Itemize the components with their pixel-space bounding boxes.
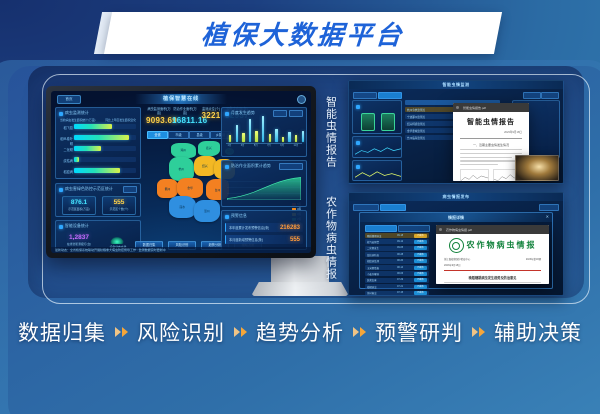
device-thumb-icon <box>381 113 395 131</box>
table-row[interactable]: 晚稻穗期病虫09-18已发布 <box>365 233 429 238</box>
table-row[interactable]: 二化螟发生09-05已发布 <box>365 246 429 251</box>
sparkline <box>355 148 401 154</box>
row-status-pill: 已发布 <box>414 266 427 270</box>
row-status-pill: 已发布 <box>414 272 427 276</box>
bar <box>275 129 277 142</box>
sub-tab[interactable] <box>539 204 559 211</box>
sub-title: 智能虫情监测 <box>443 82 470 88</box>
chevron-icon <box>479 327 485 337</box>
row-name: 宁波鄞州监测点 <box>407 115 425 119</box>
card-tabs[interactable] <box>273 110 303 117</box>
map-region[interactable]: 湖州 <box>171 143 196 159</box>
row-status-pill: 已发布 <box>414 285 427 289</box>
map-region-label: 金华 <box>187 186 193 190</box>
table-row[interactable]: 纹枯病防治08-28已发布 <box>365 252 429 257</box>
monitor: 首页 植保智慧在线 病虫监测统计 当前病虫发生面积统计(万亩) 同比上年度发生面… <box>46 86 316 258</box>
row-value: 07-29 <box>397 278 403 281</box>
table-row[interactable]: 茶树害虫07-15已发布 <box>365 291 429 296</box>
row-name: 纹枯病防治 <box>367 253 379 257</box>
row-name: 杭州余杭监测点 <box>407 108 425 112</box>
kpi-value: 16811.16 <box>172 116 198 125</box>
table-row[interactable]: 稻瘟病监测08-20已发布 <box>365 259 429 264</box>
chevron-icon <box>241 327 247 337</box>
field-photo <box>515 155 559 181</box>
kpi-label: 防治作业面积(万亩) <box>172 107 198 116</box>
legend-chip <box>279 163 303 170</box>
document-paragraph <box>444 282 541 284</box>
hbar-fill <box>74 124 112 129</box>
document-date: 2023年9月18日 <box>460 130 522 134</box>
sub-titlebar: 病虫情报发布 <box>349 193 563 201</box>
bar <box>255 131 257 142</box>
news-ticker: 最新动态：全省植保系统联动开展秋粮重大病虫防控督导工作 · 监测数据实时更新中 <box>51 247 311 253</box>
row-value: 09-05 <box>397 246 403 249</box>
map-region[interactable]: 衢州 <box>157 179 179 197</box>
map-region[interactable]: 嘉兴 <box>198 141 220 156</box>
map-region-label: 丽水 <box>179 205 185 209</box>
table-row[interactable]: 稻飞虱预警09-12已发布 <box>365 239 429 244</box>
chevron-icon <box>115 327 121 337</box>
map-region-label: 绍兴 <box>202 164 208 168</box>
map-region-label: 温州 <box>204 209 210 213</box>
chevron-icon <box>472 327 478 337</box>
sub-tab[interactable] <box>541 92 559 99</box>
row-name: 稻飞虱预警 <box>367 240 379 244</box>
kpi-item: 病虫监测面积(万亩)9093.69 <box>146 107 172 125</box>
row-status-pill: 已发布 <box>414 234 427 238</box>
card-tabs[interactable] <box>279 163 303 170</box>
bar <box>282 137 284 142</box>
bar-x-tick: 5月 <box>254 143 258 147</box>
chevron-icon <box>234 327 240 337</box>
flow-step: 预警研判 <box>375 317 463 347</box>
card-title: 月度发生趋势 <box>231 111 255 116</box>
left-panel-subtitle-a: 当前病虫发生面积统计(万亩) <box>60 118 95 122</box>
document-divider <box>460 138 522 139</box>
table-row[interactable]: 小麦赤霉病08-06已发布 <box>365 271 429 276</box>
document-titlebar: 智能虫情报告.pdf <box>453 103 529 112</box>
document-title: 智能虫情报告 <box>460 117 522 127</box>
panel-marker-icon <box>225 112 229 116</box>
close-icon[interactable]: ✕ <box>546 214 549 219</box>
row-value: 08-14 <box>397 266 403 269</box>
card-header <box>356 103 398 110</box>
poster-root: 植保大数据平台 首页 植保智慧在线 病虫监测统计 当前病虫发生面积统计(万亩) … <box>0 0 600 414</box>
map-region-label: 杭州 <box>178 167 184 171</box>
document-text-line <box>460 157 512 158</box>
hbar-fill <box>74 135 129 140</box>
card-title: 病虫监测统计 <box>65 111 89 116</box>
flow-step: 数据归集 <box>18 317 106 347</box>
sub-card-trend <box>352 136 402 158</box>
sub-title: 病虫情报发布 <box>443 194 470 200</box>
sub-card-chart <box>352 160 402 181</box>
tile-caption: 示范区面积(万亩) <box>63 207 95 211</box>
card-title: 病虫害绿色防控示范区统计 <box>65 187 113 192</box>
bar <box>229 135 231 142</box>
map-region[interactable]: 金华 <box>177 178 202 198</box>
document-text-line <box>460 153 522 154</box>
alert-value: 555 <box>290 237 300 243</box>
document-title: 农作物病虫情报 <box>467 241 537 250</box>
alert-text: 本月度新增预警信息(条) <box>229 237 263 242</box>
bar-x-tick: 3月 <box>241 143 245 147</box>
row-value: 08-20 <box>397 259 403 262</box>
map-region[interactable]: 丽水 <box>169 196 196 218</box>
hbar-label: 稻纵卷叶螟 <box>59 136 73 146</box>
device-thumb-icon <box>361 113 375 131</box>
window-dot-icon <box>439 228 442 231</box>
hbar-track <box>74 168 136 173</box>
document-red-rule <box>444 270 541 271</box>
card-title: 预警信息 <box>231 214 247 219</box>
tab-year[interactable] <box>123 186 137 193</box>
bar <box>242 133 244 142</box>
flow-arrow-icon <box>234 327 247 337</box>
sparkline <box>355 172 401 177</box>
row-status-pill: 已发布 <box>414 278 427 282</box>
monitor-neck <box>271 256 329 284</box>
panel-marker-icon <box>59 112 63 116</box>
card-tabs[interactable] <box>123 186 137 193</box>
row-name: 小麦赤霉病 <box>367 272 379 276</box>
document-title-row: 农作物病虫情报 <box>444 238 541 253</box>
bar-x-tick: 7月 <box>267 143 271 147</box>
bar <box>249 119 251 142</box>
row-value: 08-28 <box>397 253 403 256</box>
page-title: 植保大数据平台 <box>107 12 500 54</box>
tab-month[interactable] <box>289 110 303 117</box>
card-title: 智能设备统计 <box>65 224 89 229</box>
card-header: 智能设备统计 <box>59 223 137 230</box>
document-text-line <box>460 160 522 161</box>
tile-demo-count: 555 示范区个数(个) <box>102 196 136 215</box>
row-status-pill: 已发布 <box>414 291 427 295</box>
bulletin-modal: 情报详情 ✕ 晚稻穗期病虫09-18已发布稻飞虱预警09-12已发布二化螟发生0… <box>359 212 553 289</box>
row-status-pill: 已发布 <box>414 246 427 250</box>
row-name: 玉米螟情报 <box>367 266 379 270</box>
sub-tab-active[interactable] <box>380 204 406 211</box>
bar-x-tick: 9月 <box>280 143 284 147</box>
map-toolbar-2[interactable]: 县级 <box>189 131 210 139</box>
dashboard-screen: 首页 植保智慧在线 病虫监测统计 当前病虫发生面积统计(万亩) 同比上年度发生面… <box>51 91 311 253</box>
bar <box>288 132 290 142</box>
flow-arrow-icon <box>115 327 128 337</box>
row-value: 07-21 <box>397 285 403 288</box>
card-header: 病虫监测统计 <box>59 110 137 117</box>
row-status-pill: 已发布 <box>414 253 427 257</box>
row-name: 绍兴柯桥监测点 <box>407 122 425 126</box>
row-value: 07-15 <box>397 291 403 294</box>
area-chart-plot <box>227 175 301 200</box>
row-name: 金华婺城监测点 <box>407 129 425 133</box>
bar-x-tick: 11月 <box>294 143 299 147</box>
hbar-track <box>74 124 136 129</box>
tile-caption: 在线智能测报灯(台) <box>62 242 96 246</box>
hbar-label: 稻飞虱 <box>59 125 73 130</box>
document-text-line <box>444 282 541 283</box>
modal-title: 情报详情 <box>360 213 552 222</box>
sub-tab[interactable] <box>353 92 377 99</box>
hbar-track <box>74 157 136 162</box>
card-monitor-stats: 病虫监测统计 当前病虫发生面积统计(万亩) 同比上年度发生面积变化 稻飞虱稻纵卷… <box>55 107 141 179</box>
table-row[interactable]: 玉米螟情报08-14已发布 <box>365 265 429 270</box>
bar-chart-plot: 1月3月5月7月9月11月 <box>226 120 302 147</box>
dashboard-title: 植保智慧在线 <box>135 94 227 104</box>
chevron-icon <box>360 327 366 337</box>
bar <box>236 125 238 142</box>
document-meta-date: 2023年9月18日 <box>444 263 541 267</box>
modal-tab-published[interactable] <box>365 225 397 232</box>
device-distribution-icon <box>108 233 126 244</box>
map-region-label: 嘉兴 <box>206 146 212 150</box>
tile-online-devices: 1,2837 在线智能测报灯(台) <box>62 232 96 248</box>
panel-marker-icon <box>225 215 229 219</box>
document-chart-line <box>461 176 488 181</box>
chevron-icon <box>122 327 128 337</box>
sub-tab-active[interactable] <box>378 92 402 99</box>
map-toolbar-0[interactable]: 全省 <box>147 131 168 139</box>
document-section: 一、近期主要虫情发生情况 <box>460 143 522 147</box>
map-region[interactable]: 绍兴 <box>194 156 216 175</box>
hbar-fill <box>74 146 101 151</box>
row-name: 柑橘病虫 <box>367 285 377 289</box>
card-header: 病虫害绿色防控示范区统计 <box>59 186 137 193</box>
card-alerts: 预警信息 本年度累计发布预警信息(条) 216283 本月度新增预警信息(条) … <box>221 210 307 250</box>
map-region[interactable]: 温州 <box>194 200 219 222</box>
panel-marker-icon <box>59 188 63 192</box>
card-green-control: 病虫害绿色防控示范区统计 876.1 示范区面积(万亩) 555 示范区个数(个… <box>55 183 141 217</box>
hbar-fill <box>74 168 120 173</box>
process-flow: 数据归集风险识别趋势分析预警研判辅助决策 <box>0 310 600 354</box>
card-header <box>356 139 398 146</box>
hbar-track <box>74 146 136 151</box>
card-header: 预警信息 <box>225 213 303 220</box>
document-section: 晚稻穗期病虫发生趋势及防治意见 <box>444 275 541 280</box>
bar <box>262 116 264 142</box>
panel-marker-icon <box>356 141 360 145</box>
window-dot-icon <box>456 106 459 109</box>
label-pest-bulletin: 农作物病虫情报 <box>324 196 336 280</box>
alert-value: 216283 <box>280 225 300 231</box>
document-window-name: 农作物病虫情报.pdf <box>446 228 472 232</box>
table-row[interactable]: 蔬菜虫害07-29已发布 <box>365 278 429 283</box>
document-text-line <box>460 164 498 165</box>
alert-row[interactable]: 本年度累计发布预警信息(条) 216283 <box>225 223 303 232</box>
left-panel-subtitle-b: 同比上年度发生面积变化 <box>105 118 136 122</box>
panel-marker-icon <box>356 105 360 109</box>
map-region-label: 衢州 <box>165 187 171 191</box>
hbar-label: 纹枯病 <box>59 158 73 163</box>
tile-value: 555 <box>103 199 135 207</box>
panel-marker-icon <box>356 165 360 169</box>
hbar-track <box>74 135 136 140</box>
card-bar-chart: 月度发生趋势 1月3月5月7月9月11月 <box>221 107 307 157</box>
card-area-chart: 防治作业面积累计趋势 <box>221 160 307 207</box>
row-status-pill: 已发布 <box>414 240 427 244</box>
tile-demo-area: 876.1 示范区面积(万亩) <box>62 196 96 215</box>
screenshot-pest-bulletin: 病虫情报发布 情报详情 ✕ 晚稻穗期病虫09-18已发布稻飞虱预警09-12已发… <box>348 192 564 296</box>
sub-tab[interactable] <box>353 204 379 211</box>
hbar-label: 稻瘟病 <box>59 169 73 174</box>
user-avatar-icon[interactable] <box>297 95 306 104</box>
alert-text: 本年度累计发布预警信息(条) <box>229 225 269 230</box>
flow-step: 辅助决策 <box>494 317 582 347</box>
document-body: 农作物病虫情报 浙江省植物保护检疫中心 2023年第18期 2023年9月18日… <box>436 234 549 284</box>
row-name: 蔬菜虫害 <box>367 278 377 282</box>
document-meta-left: 浙江省植物保护检疫中心 <box>444 257 470 261</box>
panel-marker-icon <box>225 165 229 169</box>
flow-arrow-icon <box>472 327 485 337</box>
modal-tab-pending[interactable] <box>398 225 430 232</box>
screenshot-insect-report: 智能虫情监测 杭州余杭监测点1423 头正常宁波鄞州监测点2871 头正常绍兴柯… <box>348 80 564 184</box>
bar <box>269 134 271 142</box>
tile-caption: 示范区个数(个) <box>103 207 135 211</box>
flow-arrow-icon <box>353 327 366 337</box>
map-toolbar-1[interactable]: 市级 <box>168 131 189 139</box>
monitor-base <box>251 282 349 296</box>
hbar-fill <box>74 157 79 162</box>
alert-row[interactable]: 本月度新增预警信息(条) 555 <box>225 235 303 244</box>
monitor-bezel: 首页 植保智慧在线 病虫监测统计 当前病虫发生面积统计(万亩) 同比上年度发生面… <box>46 86 316 258</box>
row-value: 08-06 <box>397 272 403 275</box>
row-value: 09-12 <box>397 240 403 243</box>
dashboard-home-chip[interactable]: 首页 <box>57 95 81 104</box>
row-name: 台州临海监测点 <box>407 136 425 140</box>
document-meta-right: 2023年第18期 <box>526 257 541 261</box>
sub-titlebar: 智能虫情监测 <box>349 81 563 89</box>
area-series <box>227 178 301 201</box>
bar-x-tick: 1月 <box>228 143 232 147</box>
tile-value: 876.1 <box>63 199 95 207</box>
document-titlebar: 农作物病虫情报.pdf <box>436 225 549 234</box>
card-header <box>356 163 398 170</box>
card-device-stats: 智能设备统计 1,2837 在线智能测报灯(台) 设备分布态势 <box>55 220 141 250</box>
map-region-label: 湖州 <box>180 148 186 152</box>
flow-step: 风险识别 <box>137 317 225 347</box>
chevron-icon <box>353 327 359 337</box>
document-text-line <box>460 149 522 150</box>
kpi-value: 9093.69 <box>146 116 172 125</box>
map-region-label: 台州 <box>215 188 221 192</box>
bar <box>295 135 297 142</box>
tile-value: 1,2837 <box>62 234 96 242</box>
panel-marker-icon <box>59 225 63 229</box>
row-name: 稻瘟病监测 <box>367 259 379 263</box>
bar <box>302 131 304 142</box>
table-row[interactable]: 柑橘病虫07-21已发布 <box>365 284 429 289</box>
card-title: 防治作业面积累计趋势 <box>231 164 271 169</box>
row-status-pill: 已发布 <box>414 259 427 263</box>
document-window-name: 智能虫情报告.pdf <box>463 106 486 110</box>
sub-card-devices <box>352 100 402 134</box>
row-name: 晚稻穗期病虫 <box>367 234 381 238</box>
tab-year[interactable] <box>273 110 287 117</box>
kpi-item: 防治作业面积(万亩)16811.16 <box>172 107 198 125</box>
kpi-label: 病虫监测面积(万亩) <box>146 107 172 116</box>
document-pest-bulletin[interactable]: 农作物病虫情报.pdf 农作物病虫情报 浙江省植物保护检疫中心 2023年第18… <box>436 225 549 284</box>
hbar-label: 二化螟 <box>59 147 73 152</box>
row-name: 茶树害虫 <box>367 291 377 295</box>
flow-step: 趋势分析 <box>256 317 344 347</box>
official-seal-icon <box>449 238 464 253</box>
sub-tab[interactable] <box>523 92 541 99</box>
row-name: 二化螟发生 <box>367 246 379 250</box>
card-header: 防治作业面积累计趋势 <box>225 163 303 170</box>
label-insect-report: 智能虫情报告 <box>324 96 336 168</box>
row-value: 09-18 <box>397 234 403 237</box>
